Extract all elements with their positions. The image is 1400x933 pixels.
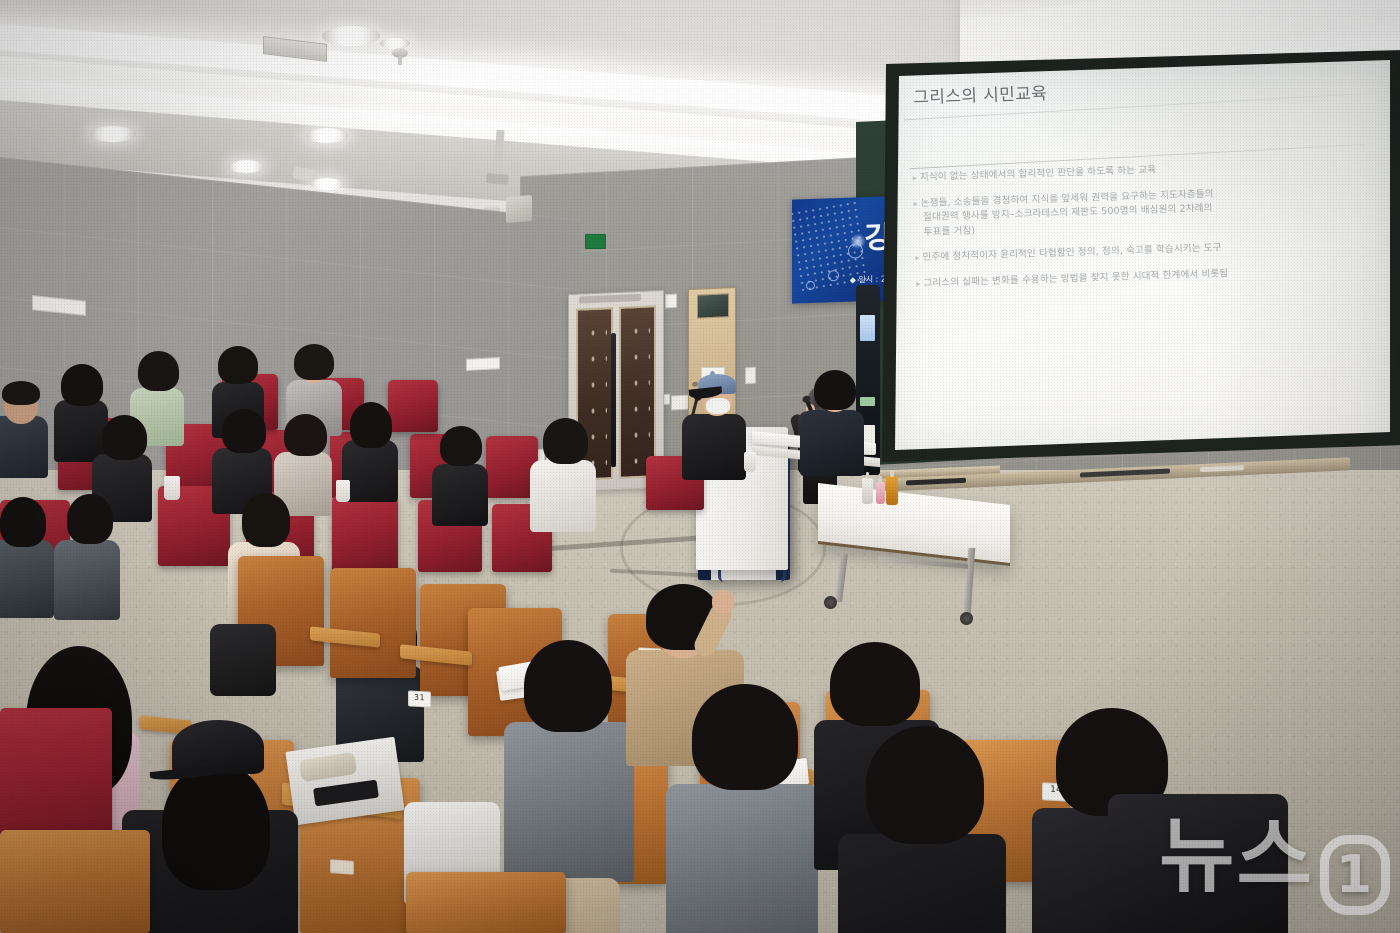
tea-bottle <box>886 476 898 505</box>
person-hair <box>61 364 103 406</box>
baseball-cap-icon <box>698 374 736 394</box>
person-torso <box>682 414 746 480</box>
seat[interactable] <box>406 872 566 933</box>
person-torso <box>0 540 54 618</box>
person-hair <box>2 381 40 405</box>
stand-label-green <box>860 397 875 406</box>
laptop[interactable] <box>285 737 404 826</box>
person-hair <box>350 402 392 448</box>
person-torso <box>0 416 48 478</box>
door-window <box>697 293 729 318</box>
slide-title: 그리스의 시민교육 <box>913 79 1048 108</box>
backpack <box>210 624 276 696</box>
raised-hand <box>712 590 734 614</box>
door-push-bar[interactable] <box>611 333 616 467</box>
person-hair <box>294 344 334 380</box>
bullet-marker-icon: ▸ <box>913 173 917 182</box>
downlight-icon <box>306 128 348 143</box>
door-closer <box>579 294 641 304</box>
person-torso <box>800 410 864 476</box>
wall-sign <box>665 294 677 309</box>
seat[interactable] <box>388 380 438 432</box>
bullet-marker-icon: ▸ <box>916 279 920 288</box>
wall-outlet <box>745 367 756 385</box>
person-hair <box>67 494 113 544</box>
person-hair <box>814 370 856 410</box>
downlight-icon <box>310 178 344 190</box>
person-hair <box>222 409 266 453</box>
person-hair <box>284 414 327 456</box>
person-hair <box>692 684 798 790</box>
person-torso <box>666 784 818 933</box>
person-torso <box>504 722 634 882</box>
slide-body: ▸지식이 없는 상태에서의 합리적인 판단을 하도록 하는 교육 ▸논쟁들, 소… <box>908 156 1380 292</box>
face-mask-icon <box>706 398 730 414</box>
person-torso <box>342 440 398 502</box>
sprinkler-icon <box>392 48 408 58</box>
person-torso <box>530 460 596 532</box>
person-hair <box>102 415 147 460</box>
door-studs <box>625 312 650 473</box>
drink-bottle <box>876 482 885 504</box>
seat[interactable] <box>330 568 416 678</box>
person-torso <box>54 540 120 620</box>
person-torso <box>432 464 488 526</box>
table-caster <box>960 612 973 625</box>
drink-cup <box>336 480 350 502</box>
person-hair <box>830 642 920 726</box>
person-hair <box>242 493 290 547</box>
water-bottle <box>862 478 873 504</box>
person-torso <box>838 834 1006 933</box>
baseball-cap-icon <box>172 720 264 774</box>
downlight-icon <box>90 126 136 142</box>
drink-cup <box>164 476 180 500</box>
exit-sign-icon <box>585 234 606 249</box>
person-hair <box>218 346 258 384</box>
seat[interactable] <box>332 496 398 572</box>
downlight-icon <box>228 160 264 173</box>
person-hair <box>138 351 179 391</box>
person-hair <box>162 762 270 890</box>
table-caster <box>824 596 837 609</box>
seat[interactable] <box>0 830 150 933</box>
slide-surface: 그리스의 시민교육 ▸지식이 없는 상태에서의 합리적인 판단을 하도록 하는 … <box>890 44 1400 450</box>
downlight-icon <box>380 38 410 49</box>
lecture-hall-photo: G ◆부산 강 ◆ 일시 : 2 그리스의 시민교육 ▸지식이 없는 상태에서의… <box>0 0 1400 933</box>
banner-left-dateline: ◆ 일시 : 2 <box>850 273 886 285</box>
wall-sign <box>466 357 500 371</box>
person-hair <box>440 426 482 466</box>
downlight-icon <box>322 26 380 46</box>
seat-number-label <box>330 859 354 875</box>
projection-screen: 그리스의 시민교육 ▸지식이 없는 상태에서의 합리적인 판단을 하도록 하는 … <box>890 60 1390 450</box>
wall-speaker-icon <box>506 195 532 223</box>
door-leaf-right[interactable] <box>619 305 656 479</box>
person-hair <box>524 640 612 732</box>
person-torso <box>54 400 108 462</box>
bullet-marker-icon: ▸ <box>913 199 917 208</box>
person-hair <box>0 497 46 547</box>
bullet-marker-icon: ▸ <box>915 253 919 262</box>
drink-cup <box>744 452 756 472</box>
person-hair <box>543 418 588 464</box>
person-hair <box>866 726 984 844</box>
stand-label-blue <box>860 315 875 341</box>
